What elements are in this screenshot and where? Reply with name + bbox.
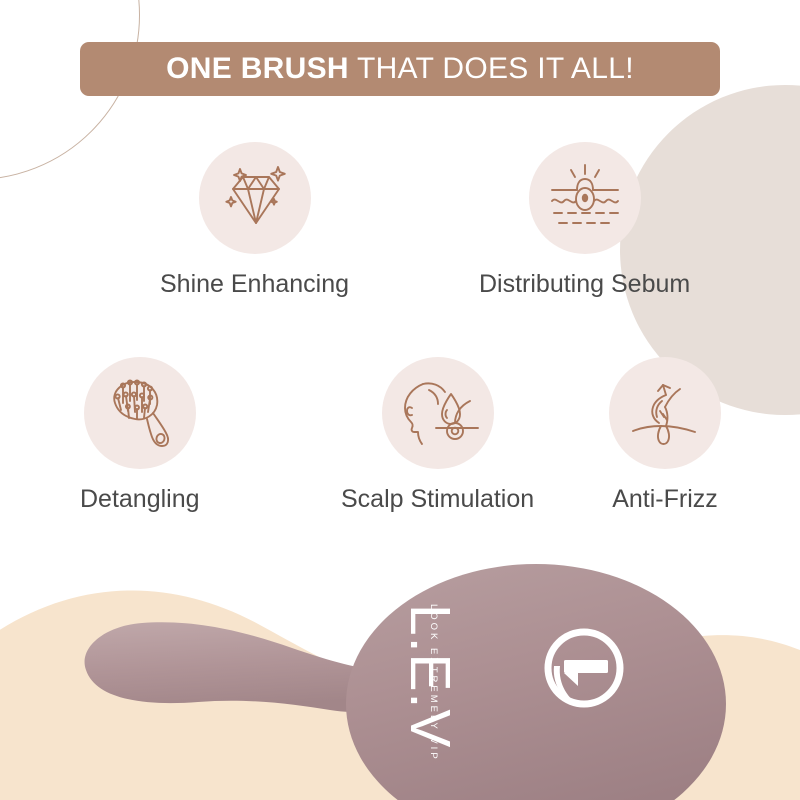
face-follicle-droplet-icon [405,383,478,444]
feature-label-frizz: Anti-Frizz [612,485,718,514]
hair-strand-arrow-icon [633,385,695,444]
icon-circle-scalp [382,357,494,469]
banner-title-bold: ONE BRUSH [166,52,349,85]
feature-anti-frizz: Anti-Frizz [609,357,721,514]
feature-scalp-stimulation: Scalp Stimulation [341,357,534,514]
brand-wordmark: L.E.V [401,604,458,748]
feature-shine-enhancing: Shine Enhancing [160,142,349,299]
icon-circle-frizz [609,357,721,469]
icon-circle-shine [199,142,311,254]
feature-label-detangling: Detangling [80,485,200,514]
icon-circle-sebum [529,142,641,254]
hairbrush-icon [114,380,168,446]
banner-title-light: THAT DOES IT ALL! [349,52,634,85]
circle-ring-logo-icon [538,622,630,714]
banner-title: ONE BRUSH THAT DOES IT ALL! [166,52,634,86]
brand-logo-group: LOOK EXTREMELY VIP L.E.V [432,580,642,780]
scalp-sebum-icon [552,165,618,224]
feature-detangling: Detangling [80,357,200,514]
feature-label-sebum: Distributing Sebum [479,270,690,299]
feature-label-scalp: Scalp Stimulation [341,485,534,514]
icon-circle-detangling [84,357,196,469]
feature-label-shine: Shine Enhancing [160,270,349,299]
promo-graphic: LOOK EXTREMELY VIP L.E.V ONE BRUSH THAT … [0,0,800,800]
header-banner: ONE BRUSH THAT DOES IT ALL! [80,42,720,96]
diamond-sparkle-icon [226,167,284,223]
feature-distributing-sebum: Distributing Sebum [479,142,690,299]
